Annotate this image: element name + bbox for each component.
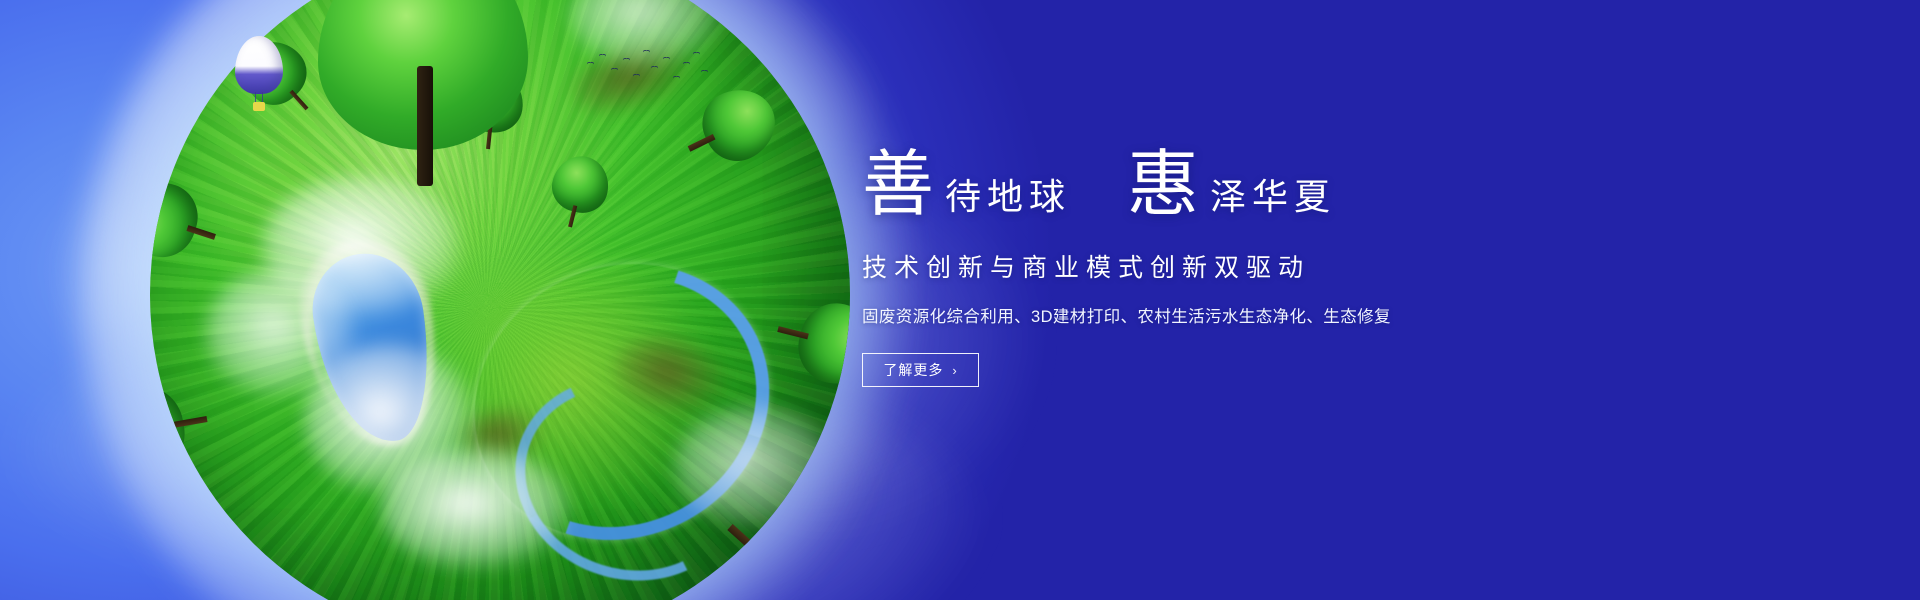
headline-char-hui: 惠 bbox=[1127, 151, 1200, 219]
bird-flock-icon bbox=[585, 48, 715, 94]
headline-rest-two: 泽华夏 bbox=[1210, 180, 1336, 220]
headline-char-shan: 善 bbox=[862, 151, 935, 219]
hero-description: 固废资源化综合利用、3D建材打印、农村生活污水生态净化、生态修复 bbox=[862, 303, 1482, 327]
headline-phrase-two: 惠 泽华夏 bbox=[1127, 151, 1336, 220]
hero-banner: 善 待地球 惠 泽华夏 技术创新与商业模式创新双驱动 固废资源化综合利用、3D建… bbox=[0, 0, 1920, 600]
page-title: 善 待地球 惠 泽华夏 bbox=[862, 128, 1482, 220]
headline-rest-one: 待地球 bbox=[945, 180, 1071, 220]
learn-more-button[interactable]: 了解更多 › bbox=[862, 353, 979, 387]
learn-more-label: 了解更多 bbox=[883, 360, 943, 380]
headline-phrase-one: 善 待地球 bbox=[862, 151, 1071, 220]
chevron-right-icon: › bbox=[952, 363, 957, 378]
hero-subtitle: 技术创新与商业模式创新双驱动 bbox=[862, 248, 1482, 284]
tree-icon bbox=[318, 0, 528, 150]
cloud-icon bbox=[206, 267, 356, 397]
cloud-icon bbox=[381, 449, 571, 569]
balloon-basket bbox=[253, 102, 265, 111]
hot-air-balloon-icon bbox=[235, 36, 283, 112]
hero-copy: 善 待地球 惠 泽华夏 技术创新与商业模式创新双驱动 固废资源化综合利用、3D建… bbox=[862, 128, 1482, 387]
balloon-envelope bbox=[235, 36, 283, 94]
